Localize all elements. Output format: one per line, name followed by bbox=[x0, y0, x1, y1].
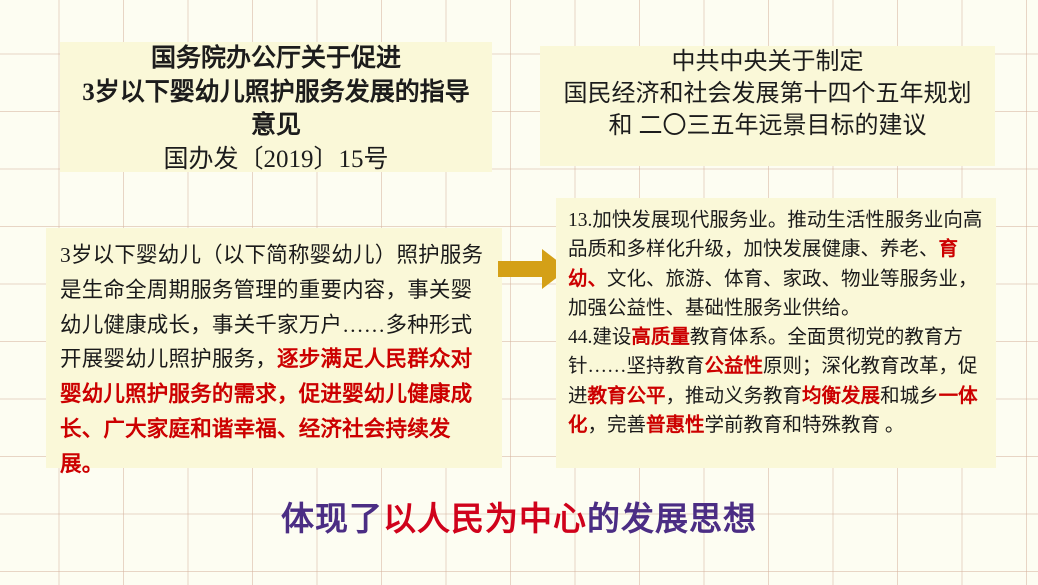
right-title-line3: 和 二〇三五年远景目标的建议 bbox=[540, 110, 995, 142]
left-title-line1: 国务院办公厅关于促进 bbox=[60, 42, 492, 76]
right-title-line2: 国民经济和社会发展第十四个五年规划 bbox=[540, 78, 995, 110]
item44-text-e: 和城乡 bbox=[880, 386, 939, 407]
left-title-document-number: 国办发〔2019〕15号 bbox=[60, 143, 492, 177]
left-title-line3: 意见 bbox=[60, 109, 492, 143]
left-body-panel: 3岁以下婴幼儿（以下简称婴幼儿）照护服务是生命全周期服务管理的重要内容，事关婴幼… bbox=[46, 228, 502, 468]
left-title-panel: 国务院办公厅关于促进 3岁以下婴幼儿照护服务发展的指导 意见 国办发〔2019〕… bbox=[60, 42, 492, 172]
right-title-line1: 中共中央关于制定 bbox=[540, 46, 995, 78]
item13-text-b: 文化、旅游、体育、家政、物业等服务业，加强公益性、基础性服务业供给。 bbox=[568, 269, 978, 319]
item44-highlight-3: 教育公平 bbox=[588, 386, 666, 407]
item13-text-a: 13.加快发展现代服务业。推动生活性服务业向高品质和多样化升级，加快发展健康、养… bbox=[568, 210, 982, 260]
item44-text-a: 44.建设 bbox=[568, 327, 631, 348]
footer-highlight: 以人民为中心 bbox=[383, 502, 587, 538]
item44-highlight-2: 公益性 bbox=[705, 356, 764, 377]
footer-suffix: 的发展思想 bbox=[587, 502, 757, 538]
footer-prefix: 体现了 bbox=[281, 502, 383, 538]
left-title-line2: 3岁以下婴幼儿照护服务发展的指导 bbox=[60, 76, 492, 110]
item44-highlight-1: 高质量 bbox=[631, 327, 690, 348]
item44-highlight-4: 均衡发展 bbox=[802, 386, 880, 407]
footer-statement: 体现了以人民为中心的发展思想 bbox=[0, 492, 1038, 540]
item44-text-g: 学前教育和特殊教育 。 bbox=[705, 415, 905, 436]
item44-text-f: ，完善 bbox=[588, 415, 647, 436]
right-title-panel: 中共中央关于制定 国民经济和社会发展第十四个五年规划 和 二〇三五年远景目标的建… bbox=[540, 46, 995, 166]
right-body-item-13: 13.加快发展现代服务业。推动生活性服务业向高品质和多样化升级，加快发展健康、养… bbox=[568, 206, 984, 323]
item44-highlight-6: 普惠性 bbox=[646, 415, 705, 436]
right-body-panel: 13.加快发展现代服务业。推动生活性服务业向高品质和多样化升级，加快发展健康、养… bbox=[556, 198, 996, 468]
item44-text-d: ，推动义务教育 bbox=[666, 386, 803, 407]
right-body-item-44: 44.建设高质量教育体系。全面贯彻党的教育方针……坚持教育公益性原则；深化教育改… bbox=[568, 323, 984, 440]
slide-canvas: 国务院办公厅关于促进 3岁以下婴幼儿照护服务发展的指导 意见 国办发〔2019〕… bbox=[0, 0, 1038, 585]
